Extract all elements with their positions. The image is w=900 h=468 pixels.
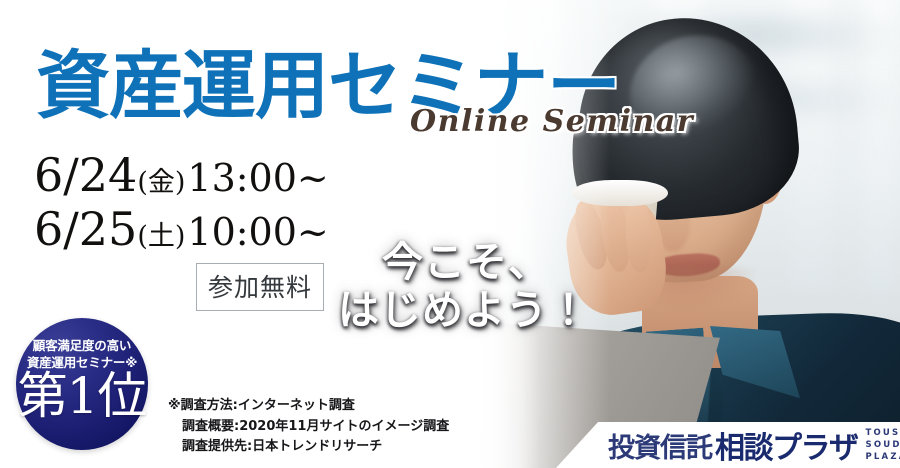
logo-band: 投資信託 相談プラザ TOUSHIN SOUDAN PLAZA <box>556 422 900 468</box>
seminar-dates: 6/24 (金) 13:00~ 6/25 (土) 10:00~ <box>34 148 329 257</box>
date-value: 6/24 <box>34 148 137 202</box>
logo-romaji-line-1: TOUSHIN <box>866 427 900 439</box>
catchphrase-line-1: 今こそ、 <box>338 238 590 286</box>
rank-badge: 顧客満足度の高い 資産運用セミナー※ 第1位 <box>16 318 148 450</box>
date-weekday: (金) <box>137 167 185 199</box>
logo-romaji: TOUSHIN SOUDAN PLAZA <box>866 427 900 463</box>
rank-caption-line-1: 顧客満足度の高い <box>27 337 137 354</box>
date-time: 13:00~ <box>185 156 328 201</box>
subtitle: Online Seminar <box>410 104 694 139</box>
rank-position: 第1位 <box>18 370 147 422</box>
survey-notes: ※調査方法:インターネット調査 調査概要:2020年11月サイトのイメージ調査 … <box>168 396 449 458</box>
logo-romaji-line-2: SOUDAN <box>866 439 900 451</box>
logo-text-toushin: 投資信託 <box>608 426 712 465</box>
date-time: 10:00~ <box>185 210 328 255</box>
logo-romaji-line-3: PLAZA <box>866 451 900 463</box>
survey-note-line: 調査提供先:日本トレンドリサーチ <box>168 437 449 458</box>
logo-text-soudan-plaza: 相談プラザ <box>712 423 858 467</box>
brand-logo[interactable]: 投資信託 相談プラザ TOUSHIN SOUDAN PLAZA <box>608 423 900 467</box>
catchphrase-line-2: はじめよう！ <box>338 286 590 334</box>
date-value: 6/25 <box>34 202 137 256</box>
survey-note-line: 調査概要:2020年11月サイトのイメージ調査 <box>168 417 449 438</box>
catchphrase: 今こそ、 はじめよう！ <box>338 238 590 335</box>
date-weekday: (土) <box>137 221 185 253</box>
date-row: 6/25 (土) 10:00~ <box>34 202 329 256</box>
date-row: 6/24 (金) 13:00~ <box>34 148 329 202</box>
free-participation-badge: 参加無料 <box>196 263 324 311</box>
survey-note-line: ※調査方法:インターネット調査 <box>168 396 449 417</box>
seminar-banner: 資産運用セミナー Online Seminar 6/24 (金) 13:00~ … <box>0 0 900 468</box>
